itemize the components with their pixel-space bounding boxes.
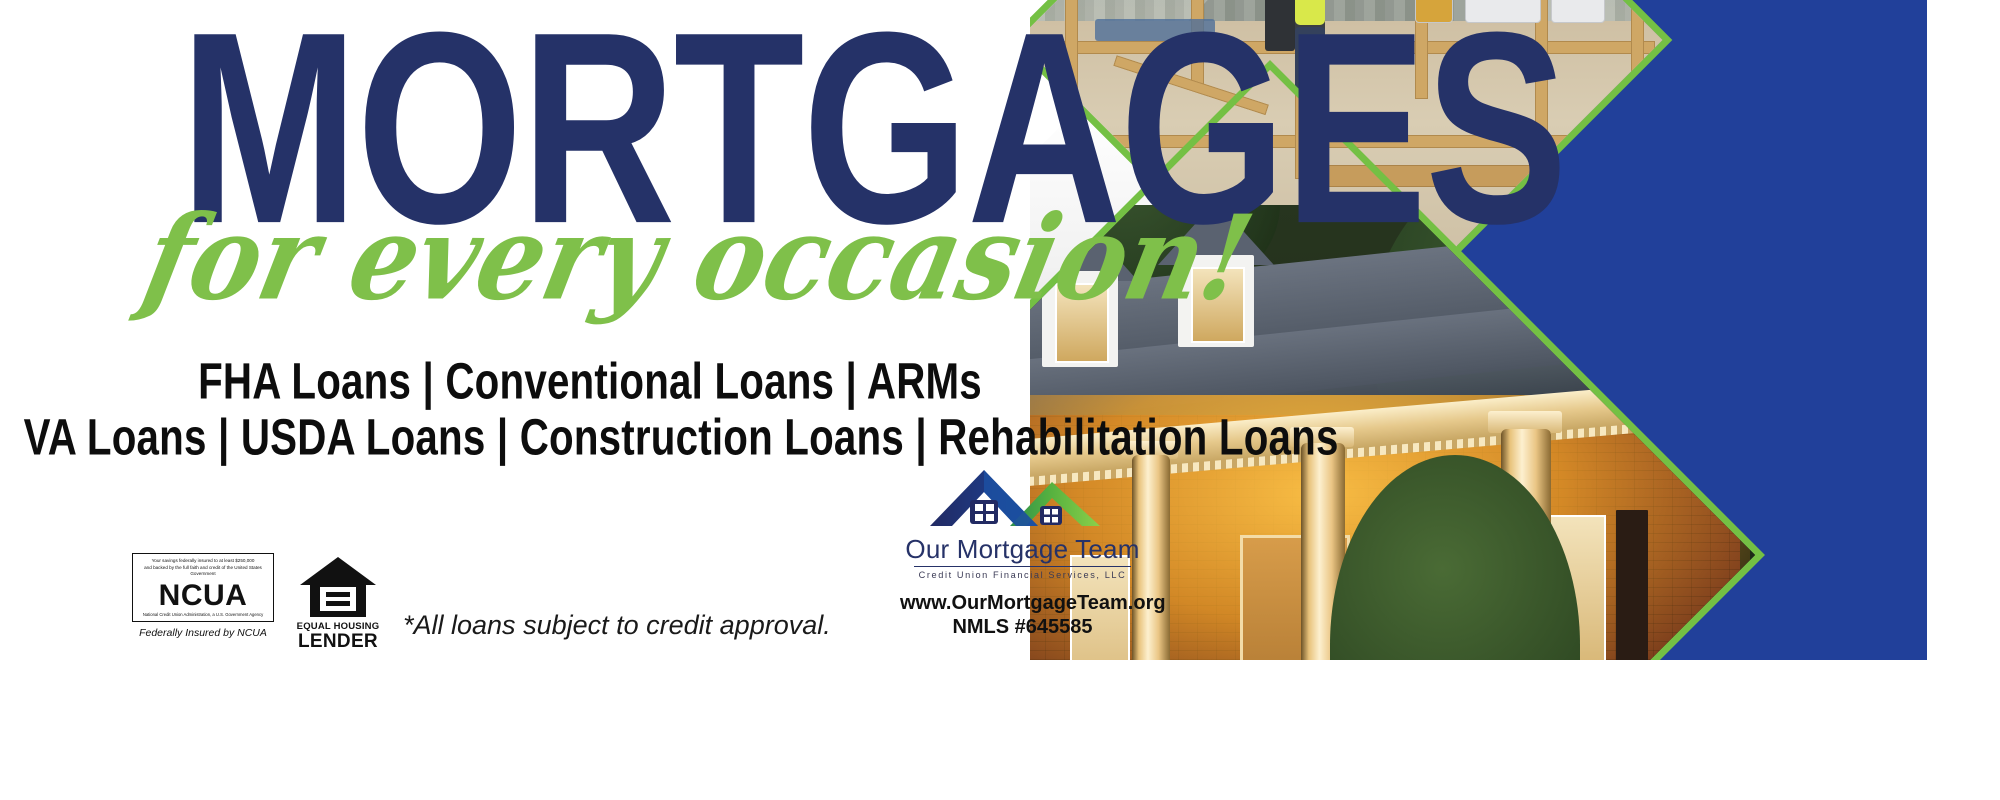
mortgage-banner: MORTGAGES for every occasion! FHA Loans … <box>0 0 2000 800</box>
tagline: for every occasion! <box>135 200 1261 316</box>
equal-housing-line-2: LENDER <box>292 632 384 651</box>
omt-nmls-number: NMLS #645585 <box>900 616 1145 640</box>
ncua-wordmark: NCUA <box>136 580 270 612</box>
ncua-box: Your savings federally insured to at lea… <box>132 553 274 622</box>
omt-divider <box>914 566 1131 567</box>
banner-artboard: MORTGAGES for every occasion! FHA Loans … <box>0 0 1927 660</box>
double-roof-house-icon <box>900 462 1145 534</box>
omt-website[interactable]: www.OurMortgageTeam.org <box>900 592 1145 616</box>
ncua-badge: Your savings federally insured to at lea… <box>132 553 274 639</box>
equal-housing-house-icon <box>298 555 378 619</box>
omt-company-name: Our Mortgage Team <box>900 536 1145 562</box>
ncua-fine-print-1: Your savings federally insured to at lea… <box>136 558 270 565</box>
our-mortgage-team-logo: Our Mortgage Team Credit Union Financial… <box>900 462 1145 639</box>
credit-approval-disclaimer: *All loans subject to credit approval. <box>403 610 831 641</box>
omt-subtitle: Credit Union Financial Services, LLC <box>900 570 1145 580</box>
ncua-caption: Federally Insured by NCUA <box>132 627 274 639</box>
omt-roof-icon <box>900 462 1145 534</box>
ncua-agency-line: National Credit Union Administration, a … <box>136 612 270 617</box>
loan-types-line-2: VA Loans | USDA Loans | Construction Loa… <box>24 408 1157 467</box>
loan-types-line-1: FHA Loans | Conventional Loans | ARMs <box>24 352 1157 411</box>
ncua-fine-print-2: and backed by the full faith and credit … <box>136 565 270 578</box>
equal-housing-lender-logo: EQUAL HOUSING LENDER <box>292 555 384 651</box>
